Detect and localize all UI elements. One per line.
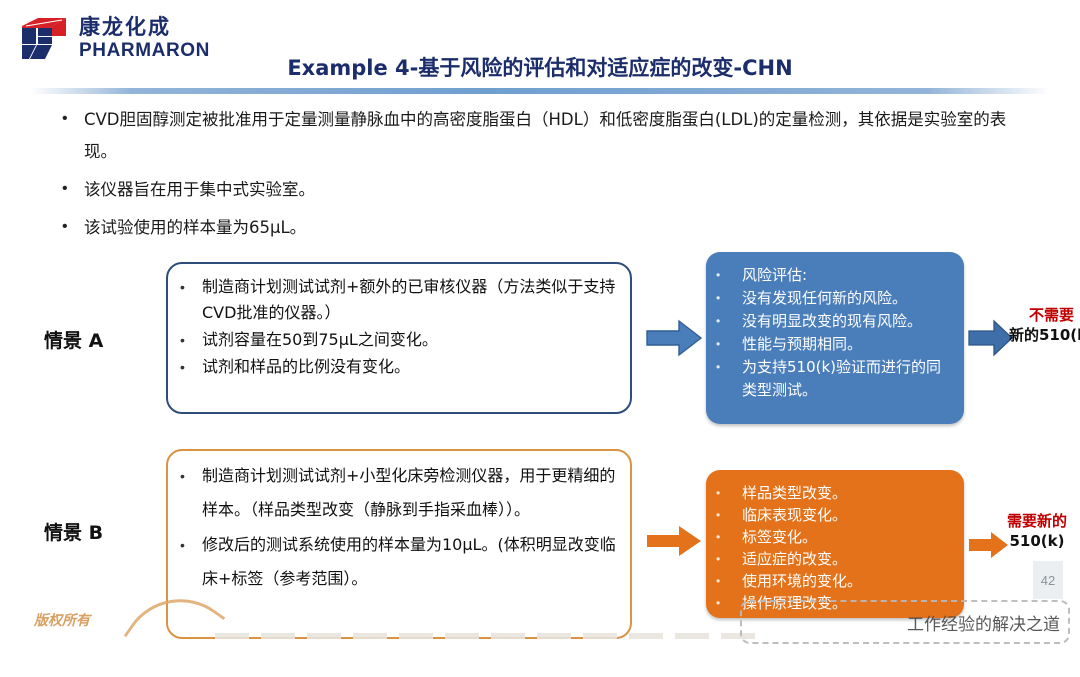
- scenario-a-conclusion-line1: 不需要: [1009, 306, 1080, 325]
- scenario-a-detail-text: 试剂容量在50到75μL之间变化。: [202, 327, 616, 353]
- list-item: • 性能与预期相同。: [716, 333, 954, 356]
- bottom-watermark: 工作经验的解决之道: [740, 600, 1070, 644]
- scenario-b-detail-text: 制造商计划测试试剂+小型化床旁检测仪器，用于更精细的样本。（样品类型改变（静脉到…: [202, 459, 616, 527]
- bullet-dot-icon: •: [716, 526, 742, 548]
- list-item: • 制造商计划测试试剂+小型化床旁检测仪器，用于更精细的样本。（样品类型改变（静…: [180, 459, 616, 527]
- scenario-a-result-text: 没有明显改变的现有风险。: [742, 310, 954, 333]
- bullet-dot-icon: •: [716, 356, 742, 379]
- intro-bullet-item: • 该仪器旨在用于集中式实验室。: [62, 174, 1022, 206]
- scenario-a-detail-text: 制造商计划测试试剂+额外的已审核仪器（方法类似于支持CVD批准的仪器。）: [202, 274, 616, 326]
- list-item: • 临床表现变化。: [716, 504, 954, 526]
- scenario-a-label: 情景 A: [44, 326, 103, 353]
- bullet-dot-icon: •: [716, 548, 742, 570]
- scenario-a-result-list: • 风险评估: • 没有发现任何新的风险。 • 没有明显改变的现有风险。 • 性…: [716, 264, 954, 402]
- scenario-b-label: 情景 B: [44, 518, 103, 545]
- bullet-dot-icon: •: [716, 333, 742, 356]
- arrow-right-orange-icon: [645, 524, 703, 563]
- scenario-b-result-text: 样品类型改变。: [742, 482, 954, 504]
- copyright-watermark: 版权所有: [34, 610, 90, 630]
- bullet-dot-icon: •: [716, 287, 742, 310]
- page-number: 42: [1033, 561, 1063, 599]
- scenario-b-conclusion: 需要新的 510(k): [1007, 512, 1067, 551]
- list-item: • 制造商计划测试试剂+额外的已审核仪器（方法类似于支持CVD批准的仪器。）: [180, 274, 616, 326]
- list-item: • 样品类型改变。: [716, 482, 954, 504]
- scenario-a-result-box: • 风险评估: • 没有发现任何新的风险。 • 没有明显改变的现有风险。 • 性…: [706, 252, 964, 424]
- intro-bullet-text: 该仪器旨在用于集中式实验室。: [84, 174, 1022, 206]
- scenario-a-detail-list: • 制造商计划测试试剂+额外的已审核仪器（方法类似于支持CVD批准的仪器。） •…: [180, 274, 616, 380]
- title-divider: [30, 88, 1050, 94]
- list-item: • 没有明显改变的现有风险。: [716, 310, 954, 333]
- slide-title: Example 4-基于风险的评估和对适应症的改变-CHN: [0, 52, 1080, 82]
- list-item: • 修改后的测试系统使用的样本量为10μL。(体积明显改变临床+标签（参考范围）…: [180, 528, 616, 596]
- bullet-dot-icon: •: [716, 310, 742, 333]
- slide-header: 康龙化成 PHARMARON Example 4-基于风险的评估和对适应症的改变…: [0, 0, 1080, 96]
- bullet-dot-icon: •: [62, 174, 84, 204]
- list-item: • 试剂容量在50到75μL之间变化。: [180, 327, 616, 353]
- scenario-a-detail-box: • 制造商计划测试试剂+额外的已审核仪器（方法类似于支持CVD批准的仪器。） •…: [166, 262, 632, 414]
- scenario-a-result-text: 为支持510(k)验证而进行的同类型测试。: [742, 356, 954, 402]
- scenario-b-conclusion-line1: 需要新的: [1007, 512, 1067, 531]
- bullet-dot-icon: •: [180, 354, 202, 380]
- scenario-b-result-list: • 样品类型改变。 • 临床表现变化。 • 标签变化。 • 适应症的改变。 • …: [716, 482, 954, 614]
- scenario-a-conclusion: 不需要 新的510(k): [1009, 306, 1080, 345]
- scenario-b-detail-list: • 制造商计划测试试剂+小型化床旁检测仪器，用于更精细的样本。（样品类型改变（静…: [180, 459, 616, 596]
- intro-bullet-item: • 该试验使用的样本量为65μL。: [62, 212, 1022, 244]
- scenario-a-result-text: 风险评估:: [742, 264, 954, 287]
- bullet-dot-icon: •: [716, 570, 742, 592]
- scenario-b-detail-text: 修改后的测试系统使用的样本量为10μL。(体积明显改变临床+标签（参考范围）。: [202, 528, 616, 596]
- scenario-b-detail-box: • 制造商计划测试试剂+小型化床旁检测仪器，用于更精细的样本。（样品类型改变（静…: [166, 449, 632, 639]
- intro-bullet-text: CVD胆固醇测定被批准用于定量测量静脉血中的高密度脂蛋白（HDL）和低密度脂蛋白…: [84, 104, 1022, 168]
- arrow-right-blue-icon: [968, 318, 1014, 363]
- bullet-dot-icon: •: [62, 104, 84, 134]
- scenario-b-result-text: 使用环境的变化。: [742, 570, 954, 592]
- scenario-a-conclusion-line2: 新的510(k): [1009, 325, 1080, 345]
- list-item: • 使用环境的变化。: [716, 570, 954, 592]
- bullet-dot-icon: •: [716, 482, 742, 504]
- scenario-b-result-text: 临床表现变化。: [742, 504, 954, 526]
- bullet-dot-icon: •: [180, 459, 202, 493]
- arrow-right-blue-icon: [645, 318, 703, 363]
- scenario-b-result-text: 标签变化。: [742, 526, 954, 548]
- scenario-a-detail-text: 试剂和样品的比例没有变化。: [202, 354, 616, 380]
- list-item: • 标签变化。: [716, 526, 954, 548]
- bullet-dot-icon: •: [716, 504, 742, 526]
- intro-bullet-item: • CVD胆固醇测定被批准用于定量测量静脉血中的高密度脂蛋白（HDL）和低密度脂…: [62, 104, 1022, 168]
- list-item: • 风险评估:: [716, 264, 954, 287]
- scenario-a-result-text: 性能与预期相同。: [742, 333, 954, 356]
- brand-name-cn: 康龙化成: [79, 17, 210, 38]
- bullet-dot-icon: •: [62, 212, 84, 242]
- scenario-a-result-text: 没有发现任何新的风险。: [742, 287, 954, 310]
- bullet-dot-icon: •: [716, 592, 742, 614]
- intro-bullet-list: • CVD胆固醇测定被批准用于定量测量静脉血中的高密度脂蛋白（HDL）和低密度脂…: [62, 104, 1022, 250]
- scenario-b-result-text: 适应症的改变。: [742, 548, 954, 570]
- list-item: • 试剂和样品的比例没有变化。: [180, 354, 616, 380]
- list-item: • 为支持510(k)验证而进行的同类型测试。: [716, 356, 954, 402]
- bullet-dot-icon: •: [180, 274, 202, 300]
- bullet-dot-icon: •: [716, 264, 742, 287]
- list-item: • 适应症的改变。: [716, 548, 954, 570]
- scenario-b-conclusion-line2: 510(k): [1007, 531, 1067, 551]
- bullet-dot-icon: •: [180, 327, 202, 353]
- scenario-b-result-box: • 样品类型改变。 • 临床表现变化。 • 标签变化。 • 适应症的改变。 • …: [706, 470, 964, 618]
- intro-bullet-text: 该试验使用的样本量为65μL。: [84, 212, 1022, 244]
- decorative-dashed-strip: [215, 633, 755, 639]
- bullet-dot-icon: •: [180, 528, 202, 562]
- list-item: • 没有发现任何新的风险。: [716, 287, 954, 310]
- arrow-right-orange-icon: [968, 530, 1010, 565]
